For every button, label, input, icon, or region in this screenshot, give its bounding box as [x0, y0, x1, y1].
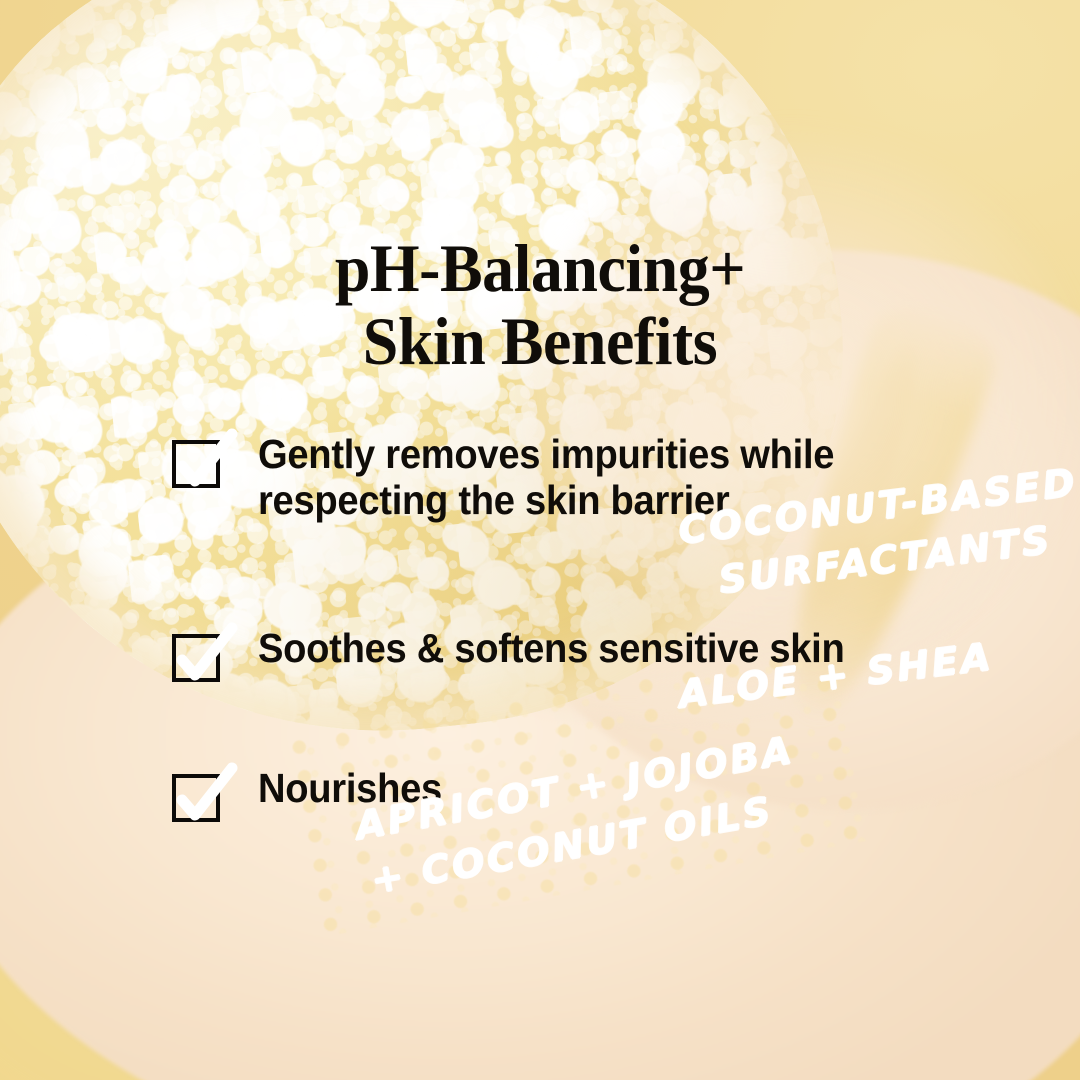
- check-icon: [168, 620, 242, 694]
- checkbox-soothes-and-softens[interactable]: [172, 634, 220, 682]
- page-title: pH-Balancing+ Skin Benefits: [32, 232, 1047, 379]
- content-layer: pH-Balancing+ Skin Benefits Gently remov…: [0, 0, 1080, 1080]
- checkbox-nourishes[interactable]: [172, 774, 220, 822]
- page-title-line-2: Skin Benefits: [32, 305, 1047, 378]
- benefit-label-line-1: Gently removes impurities while: [258, 431, 834, 477]
- check-icon: [168, 760, 242, 834]
- check-icon: [168, 426, 242, 500]
- checkbox-gently-removes-impurities[interactable]: [172, 440, 220, 488]
- product-benefits-graphic: pH-Balancing+ Skin Benefits Gently remov…: [0, 0, 1080, 1080]
- page-title-line-1: pH-Balancing+: [32, 232, 1047, 305]
- benefit-label-line-2: respecting the skin barrier: [258, 477, 729, 523]
